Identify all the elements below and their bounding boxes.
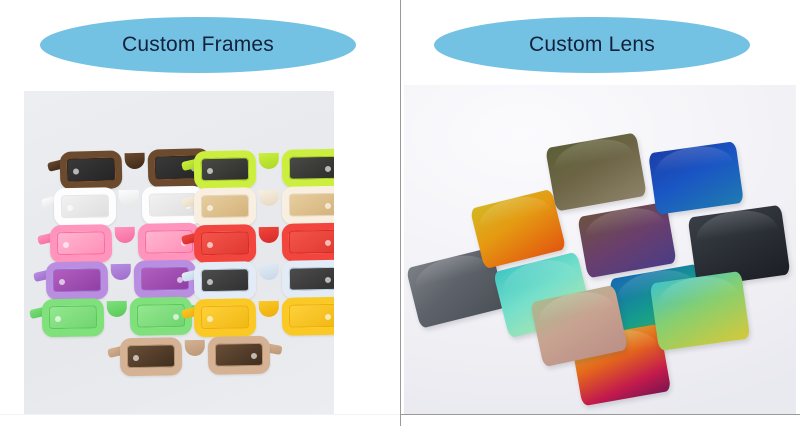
sunglasses-hinge <box>173 314 179 320</box>
sunglasses-lens-right <box>208 336 271 375</box>
sunglasses-hinge <box>325 240 331 246</box>
right-bottom-rule <box>400 414 800 415</box>
custom-frames-label-pill: Custom Frames <box>40 17 356 73</box>
sunglasses-hinge <box>63 242 69 248</box>
sunglasses-hinge <box>55 316 61 322</box>
lens-chip-yellow-green <box>650 271 751 351</box>
sunglasses-hinge <box>73 168 79 174</box>
sunglasses-hinge <box>325 203 331 209</box>
sunglasses-lens-left <box>120 337 183 376</box>
sunglasses-hinge <box>59 279 65 285</box>
sunglasses-lens-left <box>194 298 257 337</box>
sunglasses-hinge <box>207 279 213 285</box>
sunglasses-hinge <box>207 168 213 174</box>
sunglasses-bridge <box>259 301 279 317</box>
custom-frames-label-text: Custom Frames <box>122 33 274 57</box>
sunglasses-bridge <box>111 264 131 280</box>
custom-frames-photo <box>24 91 334 414</box>
sunglasses-hinge <box>251 353 257 359</box>
sunglasses-bridge <box>115 227 135 243</box>
sunglasses-bridge <box>259 153 279 169</box>
left-bottom-rule <box>0 414 400 415</box>
sunglasses-hinge <box>207 242 213 248</box>
custom-lens-label-pill: Custom Lens <box>434 17 750 73</box>
sunglasses-bridge <box>185 340 205 356</box>
sunglasses-lens-right <box>282 149 334 188</box>
sunglasses-hinge <box>207 205 213 211</box>
sunglasses-hinge <box>67 205 73 211</box>
lens-chip-royal-blue <box>648 141 744 215</box>
sunglasses-bridge <box>107 301 127 317</box>
sunglasses-bridge <box>125 153 145 170</box>
sunglasses-bridge <box>259 264 279 280</box>
sunglasses-hinge <box>133 355 139 361</box>
sunglasses-bridge <box>259 190 279 206</box>
sunglasses-lens-right <box>282 186 334 225</box>
sunglasses-hinge <box>325 166 331 172</box>
sunglasses-hinge <box>325 277 331 283</box>
sunglasses-hinge <box>325 314 331 320</box>
sunglasses-hinge <box>207 316 213 322</box>
sunglasses-lens-right <box>282 297 334 336</box>
product-feature-board: Custom Frames Custom Lens <box>0 0 800 426</box>
sunglasses-lens-left <box>42 298 105 337</box>
custom-lens-photo <box>404 85 796 414</box>
sunglasses-lens-right <box>282 260 334 299</box>
sunglasses-bridge <box>119 190 139 206</box>
sunglasses-lens-right <box>282 223 334 262</box>
panel-divider <box>400 0 401 426</box>
sunglasses-bridge <box>259 227 279 243</box>
lens-chip-olive-bronze <box>545 132 647 211</box>
sunglasses-tan-wood <box>120 333 271 382</box>
custom-lens-label-text: Custom Lens <box>529 33 655 57</box>
